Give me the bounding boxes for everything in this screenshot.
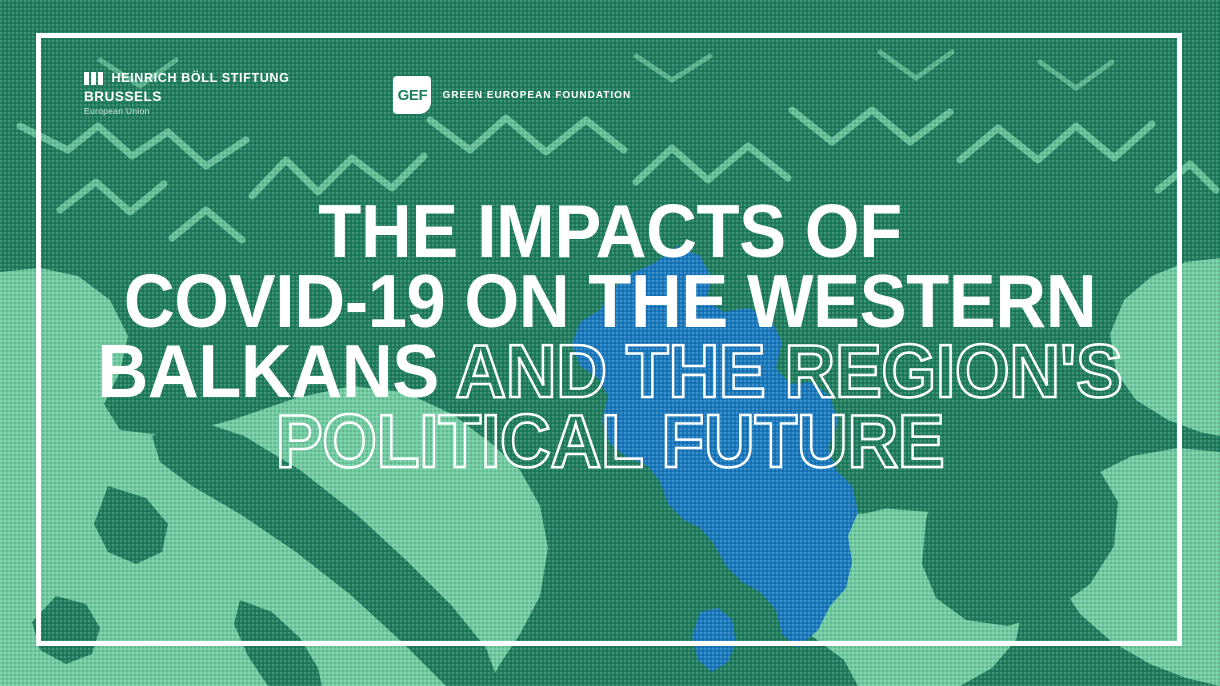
green-european-foundation-logo: GEF GREEN EUROPEAN FOUNDATION [393,72,631,114]
cover-title: THE IMPACTS OF COVID-19 ON THE WESTERN B… [0,196,1220,477]
hbs-name: HEINRICH BÖLL STIFTUNG [112,72,290,85]
gef-mark-text: GEF [398,87,428,104]
gef-mark-icon: GEF [393,76,431,114]
hbs-office: BRUSSELS [84,89,289,104]
cover-image: HEINRICH BÖLL STIFTUNG BRUSSELS European… [0,0,1220,686]
title-line-1: THE IMPACTS OF [37,196,1184,266]
gef-name: GREEN EUROPEAN FOUNDATION [442,90,631,101]
logo-bar: HEINRICH BÖLL STIFTUNG BRUSSELS European… [84,72,631,116]
three-bars-icon [84,72,103,85]
hbs-region: European Union [84,106,289,116]
title-line-2: COVID-19 ON THE WESTERN [37,266,1184,336]
heinrich-boll-stiftung-logo: HEINRICH BÖLL STIFTUNG BRUSSELS European… [84,72,289,116]
title-line-3: BALKANS AND THE REGION'S [37,336,1184,406]
title-line-4: POLITICAL FUTURE [37,406,1184,476]
